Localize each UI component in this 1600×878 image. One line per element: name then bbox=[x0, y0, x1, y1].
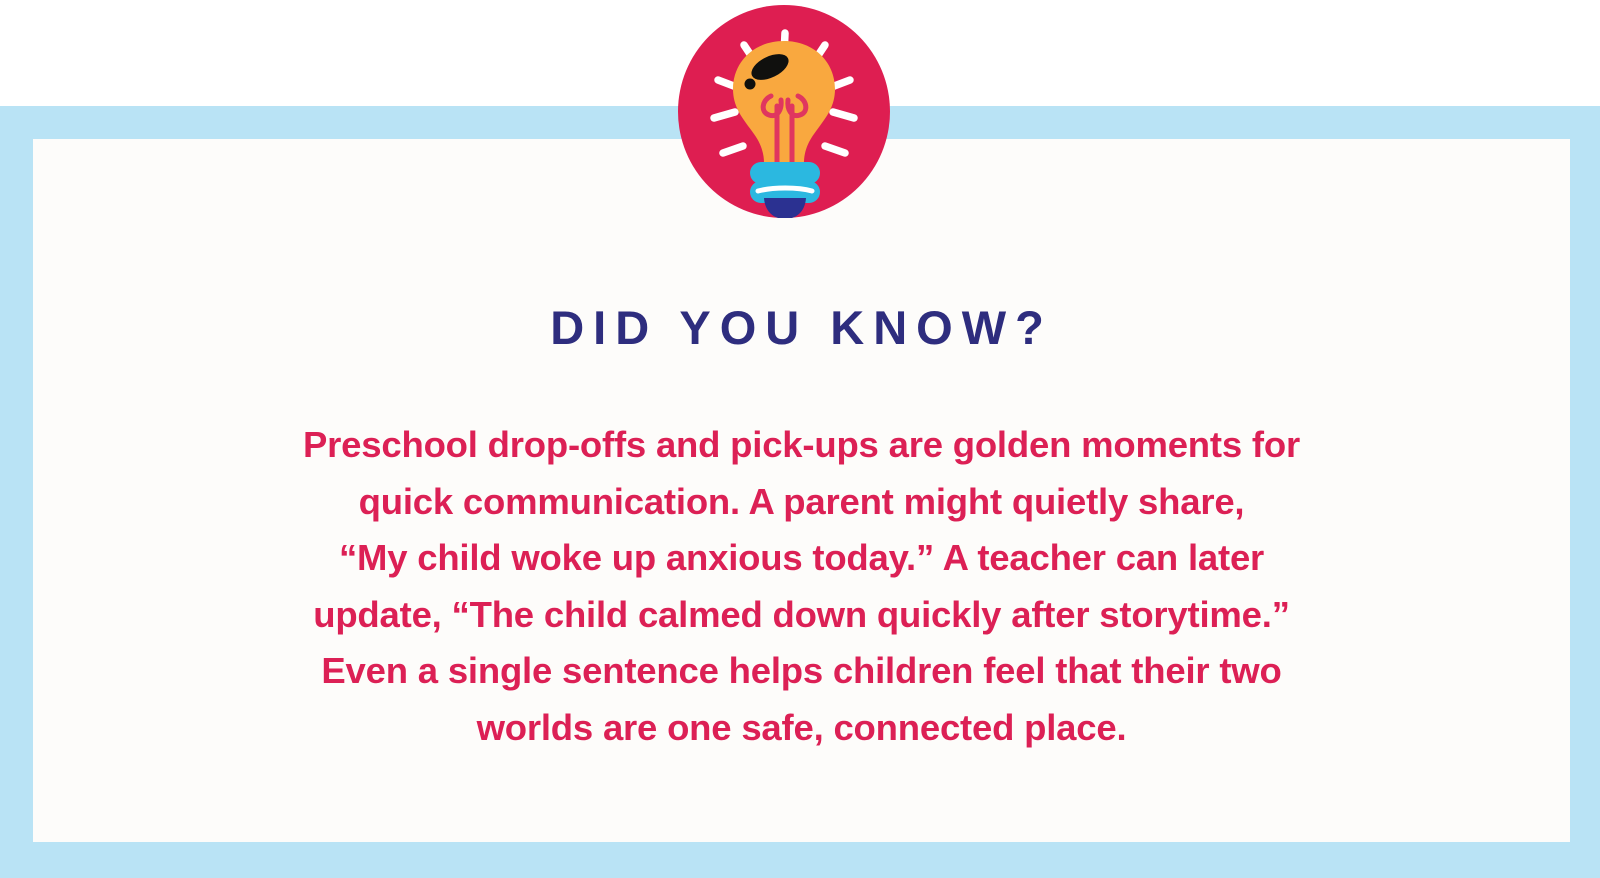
card-content: DID YOU KNOW? Preschool drop-offs and pi… bbox=[33, 139, 1570, 842]
lightbulb-badge bbox=[678, 5, 890, 218]
body-paragraph: Preschool drop-offs and pick-ups are gol… bbox=[212, 417, 1392, 756]
bulb-highlight-dot bbox=[745, 79, 756, 90]
bulb-base bbox=[750, 162, 820, 203]
poster-canvas: DID YOU KNOW? Preschool drop-offs and pi… bbox=[0, 0, 1600, 878]
page-title: DID YOU KNOW? bbox=[550, 304, 1053, 351]
